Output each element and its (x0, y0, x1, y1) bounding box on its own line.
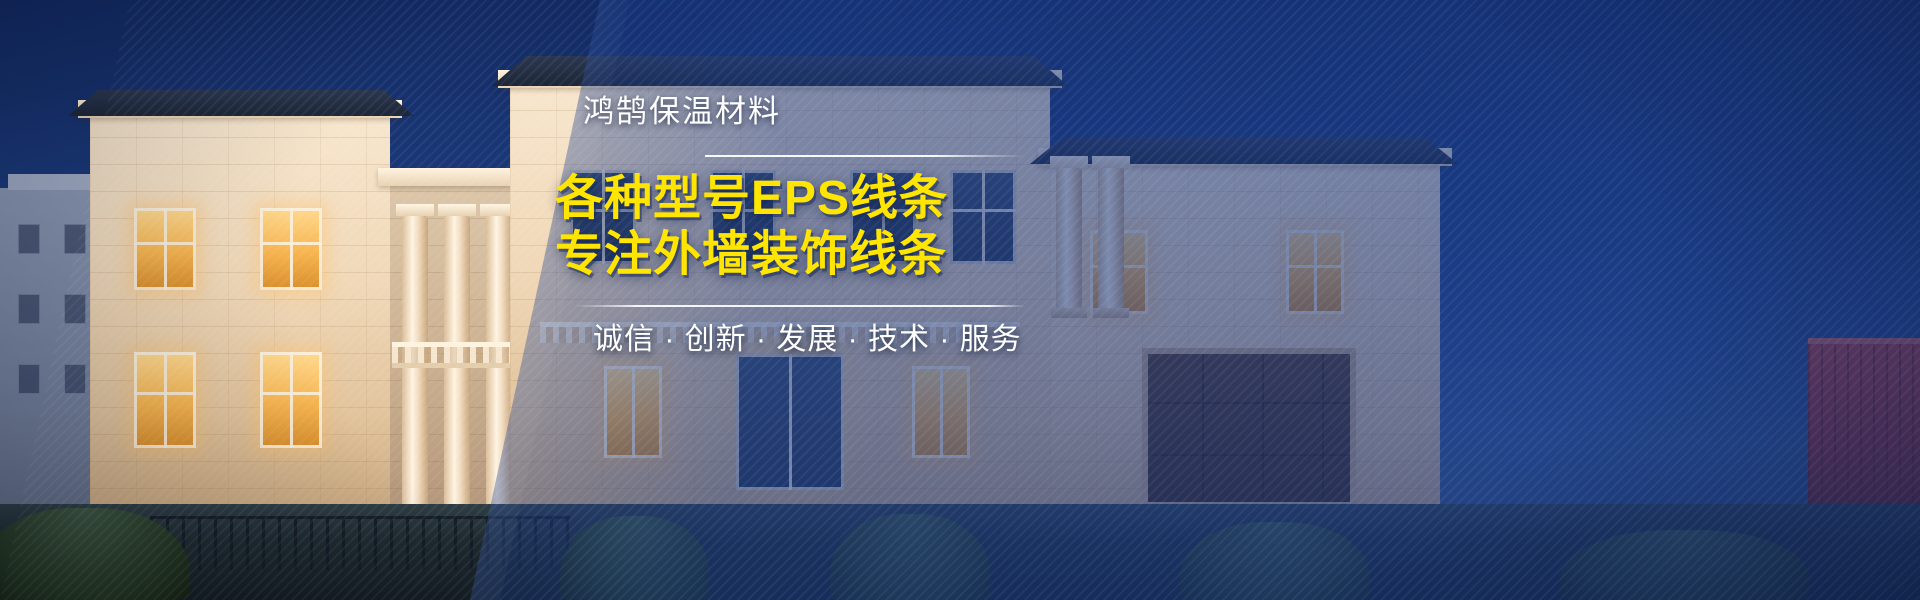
divider-top (705, 155, 1025, 157)
tagline: 诚信 · 创新 · 发展 · 技术 · 服务 (593, 325, 1025, 355)
banner-text-block: 鸿鹄保温材料 各种型号EPS线条 专注外墙装饰线条 诚信 · 创新 · 发展 ·… (555, 96, 1025, 355)
divider-bottom (575, 305, 1025, 307)
brand-name: 鸿鹄保温材料 (583, 96, 1025, 127)
headline-line-2: 专注外墙装饰线条 (555, 227, 1025, 283)
hero-banner: 鸿鹄保温材料 各种型号EPS线条 专注外墙装饰线条 诚信 · 创新 · 发展 ·… (0, 0, 1920, 600)
headline-line-1: 各种型号EPS线条 (555, 171, 1025, 227)
